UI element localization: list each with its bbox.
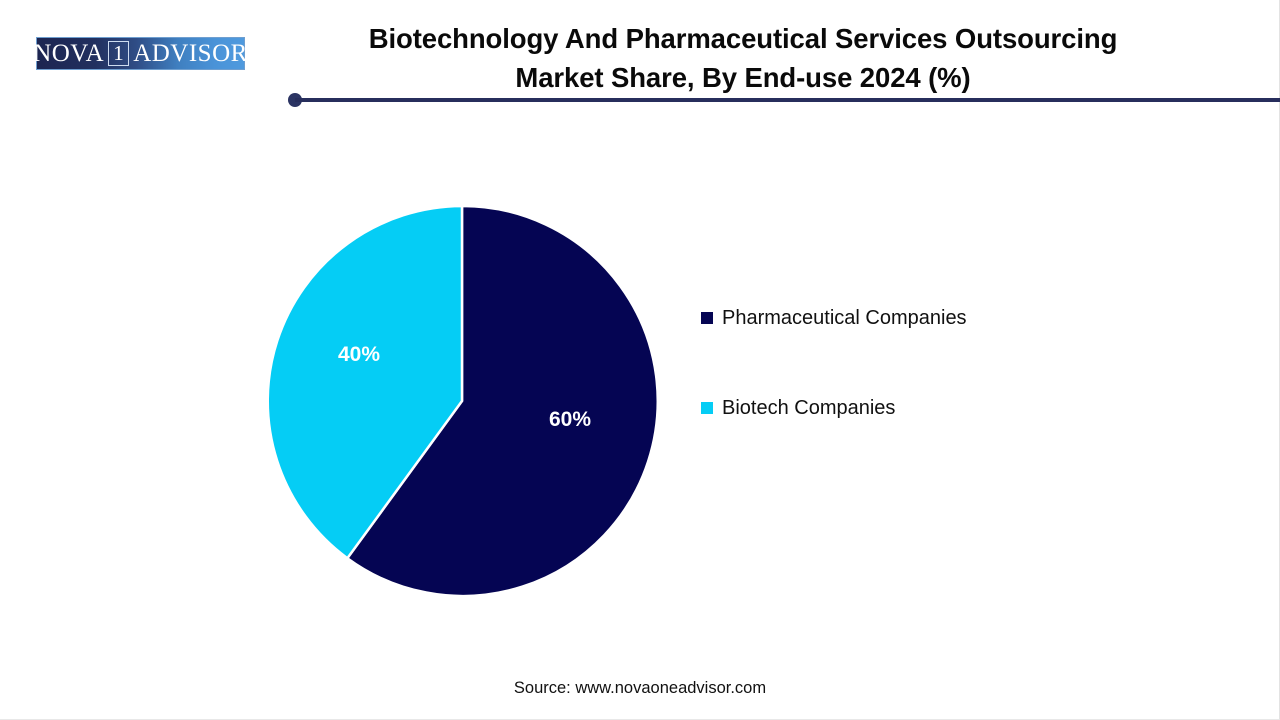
- header-divider: [288, 92, 1280, 110]
- legend-label-biotech-companies: Biotech Companies: [722, 398, 895, 418]
- page-title: Biotechnology And Pharmaceutical Service…: [293, 19, 1193, 97]
- brand-logo-badge: 1: [108, 41, 129, 66]
- pie-chart-svg: 60% 40%: [267, 206, 657, 596]
- source-caption: Source: www.novaoneadvisor.com: [0, 679, 1280, 698]
- page-title-line-1: Biotechnology And Pharmaceutical Service…: [293, 19, 1193, 58]
- brand-logo-right-text: ADVISOR: [132, 41, 249, 66]
- brand-logo-text: NOVA1ADVISOR: [32, 41, 249, 66]
- chart-page: NOVA1ADVISOR Biotechnology And Pharmaceu…: [0, 0, 1280, 720]
- pie-label-biotech-companies: 40%: [338, 343, 380, 366]
- pie-chart: 60% 40%: [267, 206, 657, 596]
- brand-logo[interactable]: NOVA1ADVISOR: [36, 37, 245, 70]
- legend-item-pharmaceutical-companies[interactable]: Pharmaceutical Companies: [701, 306, 1121, 330]
- legend-swatch-icon-pharmaceutical-companies: [701, 312, 713, 324]
- brand-logo-left-text: NOVA: [32, 41, 105, 66]
- divider-line: [295, 98, 1280, 102]
- chart-container: 60% 40% Pharmaceutical Companies Biotech…: [0, 110, 1280, 655]
- pie-label-pharmaceutical-companies: 60%: [549, 408, 591, 431]
- legend-swatch-icon-biotech-companies: [701, 402, 713, 414]
- legend-label-pharmaceutical-companies: Pharmaceutical Companies: [722, 308, 967, 328]
- chart-legend: Pharmaceutical Companies Biotech Compani…: [701, 306, 1121, 420]
- legend-item-biotech-companies[interactable]: Biotech Companies: [701, 396, 1121, 420]
